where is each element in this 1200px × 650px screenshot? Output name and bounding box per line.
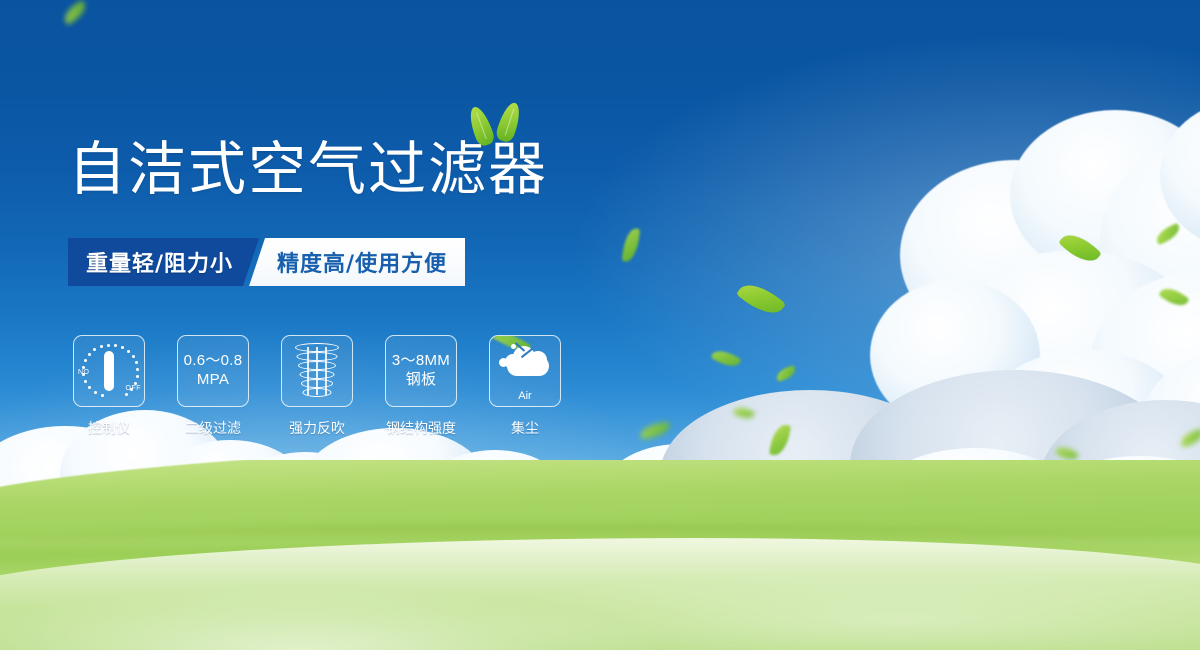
feature-icon-box: NO OFF — [73, 335, 145, 407]
steel-material: 钢板 — [392, 371, 450, 390]
product-banner: 自洁式空气过滤器 重量轻/阻力小 精度高/使用方便 — [0, 0, 1200, 650]
feature-item-dust[interactable]: Air 集尘 — [484, 335, 566, 438]
feature-label: 二级过滤 — [185, 418, 241, 438]
feature-list: NO OFF 控制仪 0.6～0.8 MPA 二级过滤 — [68, 335, 566, 438]
steel-thickness: 3～8MM — [392, 352, 450, 371]
grass-field — [0, 460, 1200, 650]
pressure-unit: MPA — [184, 371, 243, 390]
pressure-value: 0.6～0.8 — [184, 352, 243, 371]
subtitle-left: 重量轻/阻力小 — [68, 238, 259, 286]
feature-label: 钢结构强度 — [386, 418, 456, 438]
feature-icon-box — [281, 335, 353, 407]
feature-label: 集尘 — [511, 418, 539, 438]
title-block: 自洁式空气过滤器 — [68, 140, 548, 198]
feature-icon-box: 3～8MM 钢板 — [385, 335, 457, 407]
feature-item-blowback[interactable]: 强力反吹 — [276, 335, 358, 438]
page-title: 自洁式空气过滤器 — [68, 140, 548, 198]
dial-label-no: NO — [78, 369, 90, 376]
pressure-text-icon: 0.6～0.8 MPA — [184, 352, 243, 390]
cloud-cluster-right — [860, 100, 1200, 480]
feature-icon-box: Air — [489, 335, 561, 407]
feature-label: 强力反吹 — [289, 418, 345, 438]
feature-item-filtration[interactable]: 0.6～0.8 MPA 二级过滤 — [172, 335, 254, 438]
subtitle-bar: 重量轻/阻力小 精度高/使用方便 — [68, 238, 465, 286]
feature-item-steel[interactable]: 3～8MM 钢板 钢结构强度 — [380, 335, 462, 438]
dial-label-off: OFF — [126, 385, 142, 392]
hill-sheen — [0, 500, 1200, 650]
dial-knob — [104, 351, 114, 391]
air-label: Air — [497, 390, 553, 402]
steel-text-icon: 3～8MM 钢板 — [392, 352, 450, 390]
feature-item-control[interactable]: NO OFF 控制仪 — [68, 335, 150, 438]
control-dial-icon: NO OFF — [79, 342, 139, 400]
spiral-filter-icon — [294, 343, 340, 399]
subtitle-right: 精度高/使用方便 — [249, 238, 465, 286]
feature-icon-box: 0.6～0.8 MPA — [177, 335, 249, 407]
feature-label: 控制仪 — [88, 418, 130, 438]
air-cloud-icon — [497, 342, 553, 392]
